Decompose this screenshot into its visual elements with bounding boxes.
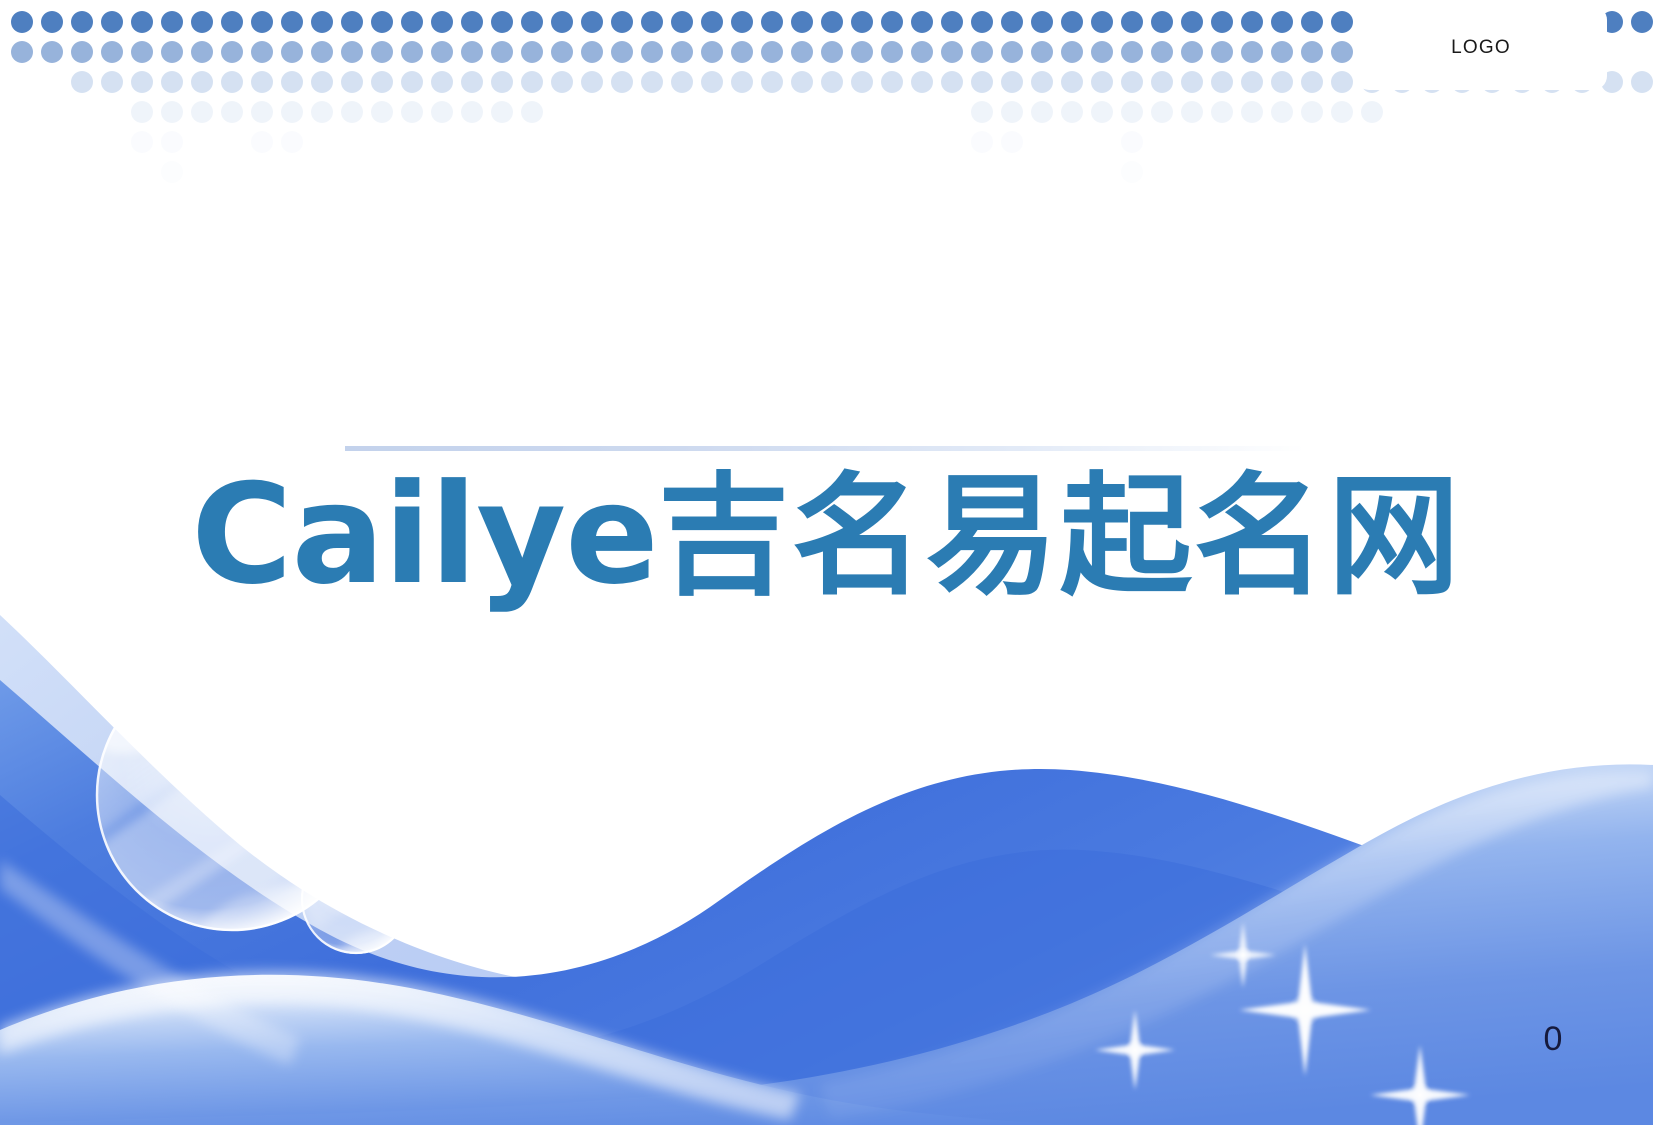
page-title: Cailye吉名易起名网 — [0, 430, 1653, 621]
logo-placeholder[interactable]: LOGO — [1355, 6, 1607, 90]
title-latin-text: Cailye — [191, 454, 658, 615]
title-slide: LOGO Cailye吉名易起名网 — [0, 0, 1653, 1125]
title-cjk-text: 吉名易起名网 — [658, 460, 1462, 614]
wave-decoration-graphic — [0, 560, 1653, 1125]
logo-label: LOGO — [1451, 37, 1511, 59]
page-number: 0 — [1528, 1020, 1578, 1059]
